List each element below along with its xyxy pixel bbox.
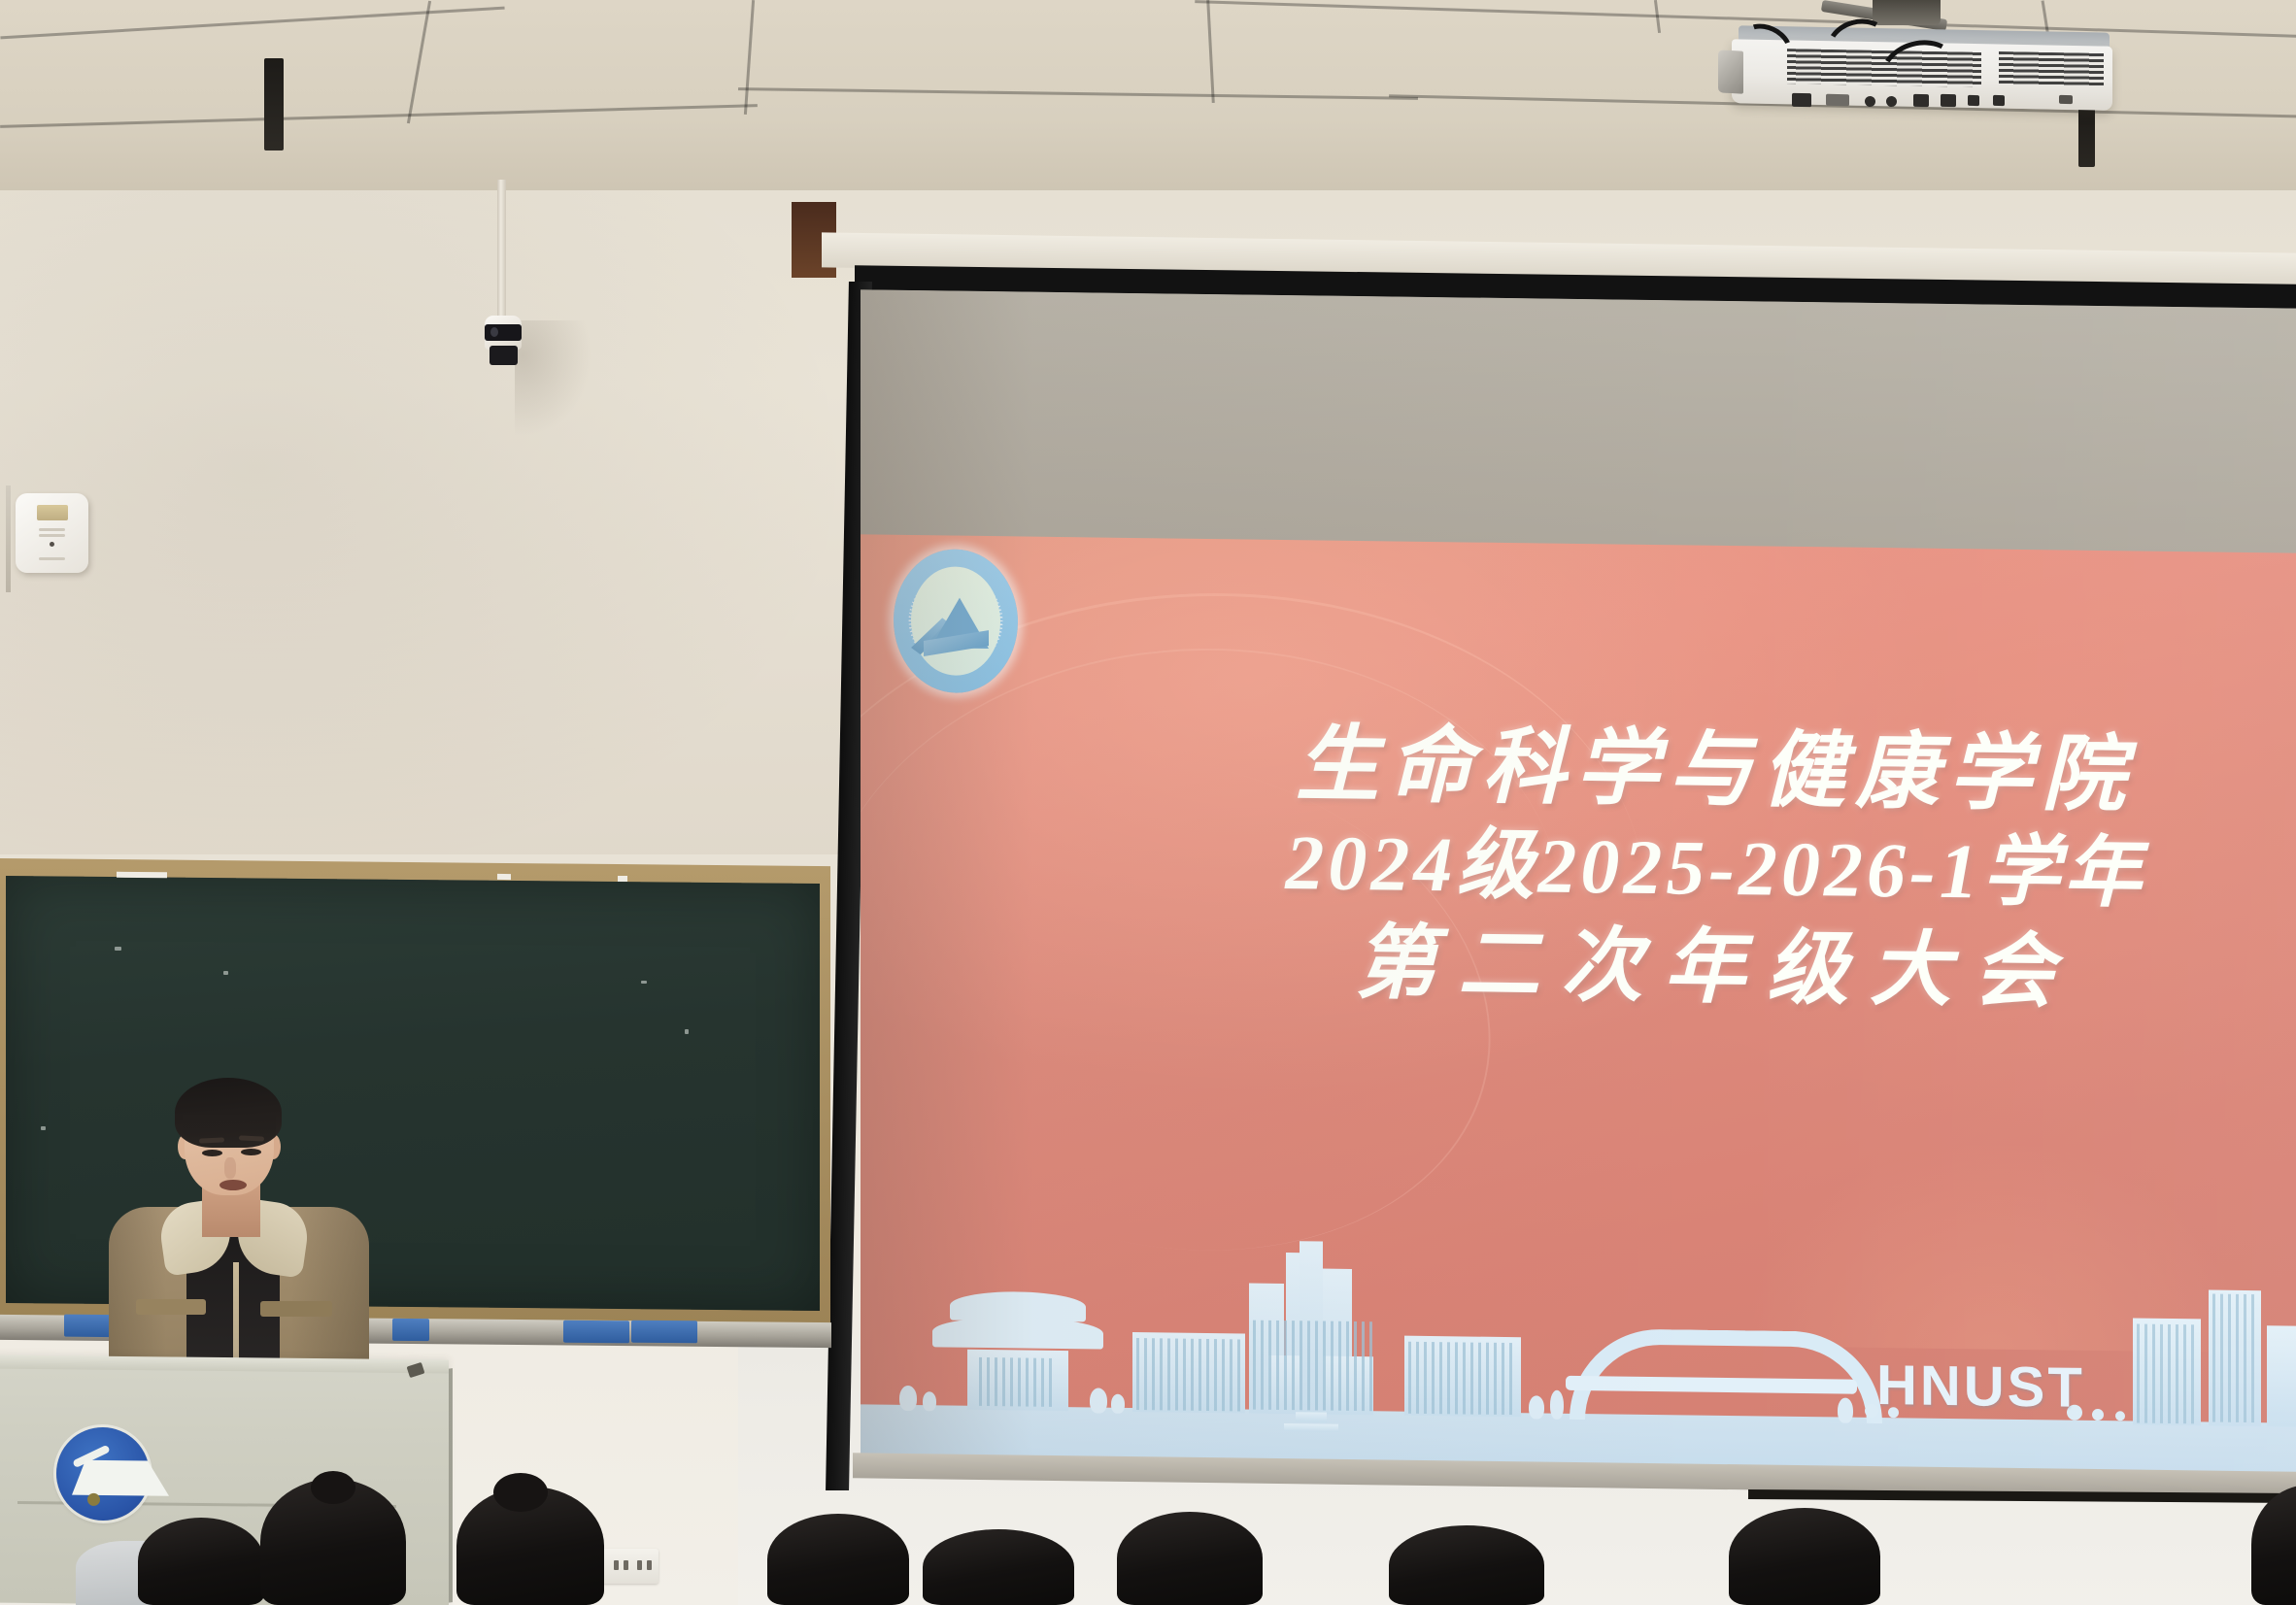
- board-eraser[interactable]: [631, 1321, 697, 1344]
- audience-head: [138, 1518, 264, 1605]
- slide-title-block: 生命科学与健康学院 2024级2025-2026-1学年 第二次年级大会: [1152, 720, 2279, 1022]
- skyline-wordmark: HNUST: [1876, 1353, 2085, 1421]
- wall-conduit: [6, 485, 11, 592]
- classroom-scene: 生命科学与健康学院 2024级2025-2026-1学年 第二次年级大会: [0, 0, 2296, 1605]
- panel-display: [37, 505, 68, 520]
- campus-skyline-graphic: HNUST: [861, 1251, 2296, 1483]
- hnust-university-emblem: [894, 549, 1018, 694]
- presentation-slide: 生命科学与健康学院 2024级2025-2026-1学年 第二次年级大会: [861, 534, 2296, 1483]
- audience-head: [767, 1514, 909, 1605]
- projector-lens-icon: [1718, 50, 1743, 93]
- wall-power-socket[interactable]: [602, 1549, 658, 1584]
- slide-title-line-3: 第二次年级大会: [1152, 915, 2279, 1022]
- ceiling-bracket-left: [264, 58, 284, 150]
- audience-head: [1389, 1525, 1544, 1605]
- audience-head: [1729, 1508, 1880, 1605]
- camera-mount-pole: [497, 180, 506, 323]
- camera-sensor-icon: [490, 346, 518, 365]
- audience-head: [923, 1529, 1074, 1605]
- slide-title-line-1: 生命科学与健康学院: [1152, 720, 2279, 820]
- wall-shadow: [0, 190, 855, 889]
- camera-shadow: [515, 320, 592, 437]
- board-eraser[interactable]: [563, 1321, 629, 1344]
- projection-screen: 生命科学与健康学院 2024级2025-2026-1学年 第二次年级大会: [861, 289, 2296, 1483]
- projector-ceiling-mount: [1873, 0, 1941, 25]
- audience-head: [1117, 1512, 1263, 1605]
- screen-blank-area: [861, 289, 2296, 556]
- slide-title-line-2: 2024级2025-2026-1学年: [1152, 816, 2279, 922]
- podium-university-emblem: [56, 1426, 150, 1521]
- camera-lens-icon: [485, 324, 522, 341]
- panel-led: [50, 542, 54, 547]
- wall-control-panel[interactable]: [16, 493, 88, 573]
- board-eraser[interactable]: [392, 1319, 429, 1341]
